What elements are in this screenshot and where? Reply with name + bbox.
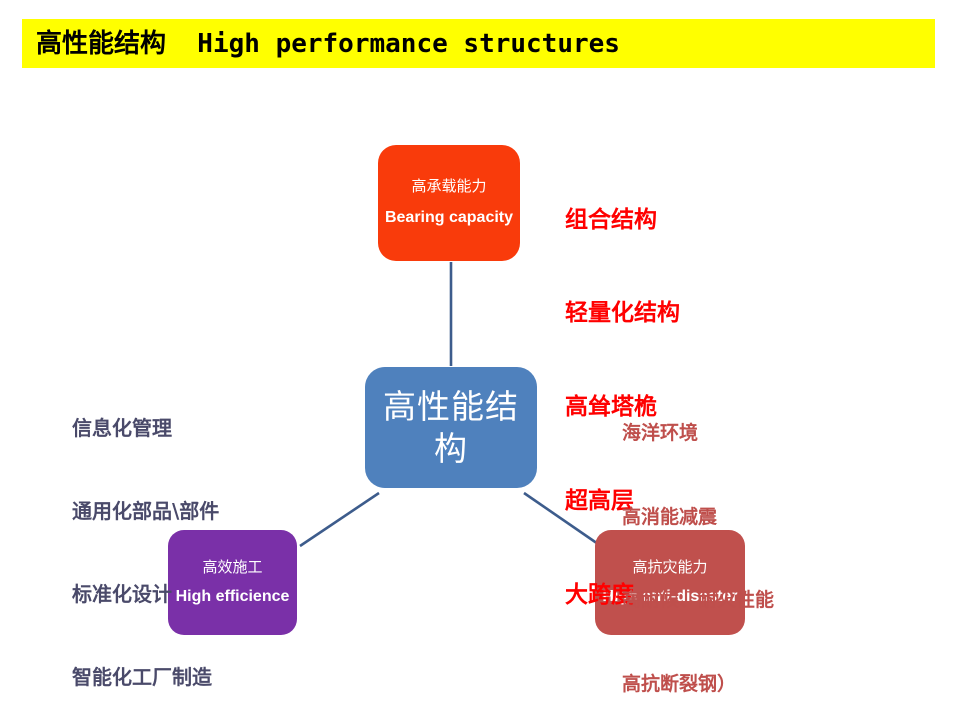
annotation-left-line: 信息化管理 bbox=[72, 415, 219, 443]
annotation-left-line: 标准化设计 bbox=[72, 581, 219, 609]
annotation-right-line: 海洋环境 bbox=[622, 420, 774, 448]
node-bearing-capacity[interactable]: 高承载能力 Bearing capacity bbox=[378, 145, 520, 261]
annotation-right-line: 高耐候、耐火性能 bbox=[622, 587, 774, 615]
annotation-left-line: 通用化部品\部件 bbox=[72, 498, 219, 526]
annotation-top-right-line: 组合结构 bbox=[565, 205, 680, 236]
annotation-right-line: 高抗断裂钢） bbox=[622, 671, 774, 699]
connector-center-to-efficience bbox=[300, 493, 379, 546]
annotation-left-line: 智能化工厂制造 bbox=[72, 664, 219, 692]
node-bearing-capacity-label-en: Bearing capacity bbox=[385, 209, 513, 228]
annotation-left: 信息化管理 通用化部品\部件 标准化设计 智能化工厂制造 快速装配化安装 bbox=[72, 360, 219, 720]
node-high-performance-structures-label-cn: 高性能结构 bbox=[365, 386, 537, 469]
annotation-top-right-line: 轻量化结构 bbox=[565, 298, 680, 329]
node-high-performance-structures[interactable]: 高性能结构 bbox=[365, 367, 537, 488]
slide-canvas: 高性能结构 High performance structures 高承载能力 … bbox=[0, 0, 960, 720]
annotation-right-line: 高消能减震 bbox=[622, 504, 774, 532]
annotation-right: 海洋环境 高消能减震 高耐候、耐火性能 高抗断裂钢） 抗震\抗爆\抗风 bbox=[622, 364, 774, 720]
node-bearing-capacity-label-cn: 高承载能力 bbox=[411, 178, 486, 195]
